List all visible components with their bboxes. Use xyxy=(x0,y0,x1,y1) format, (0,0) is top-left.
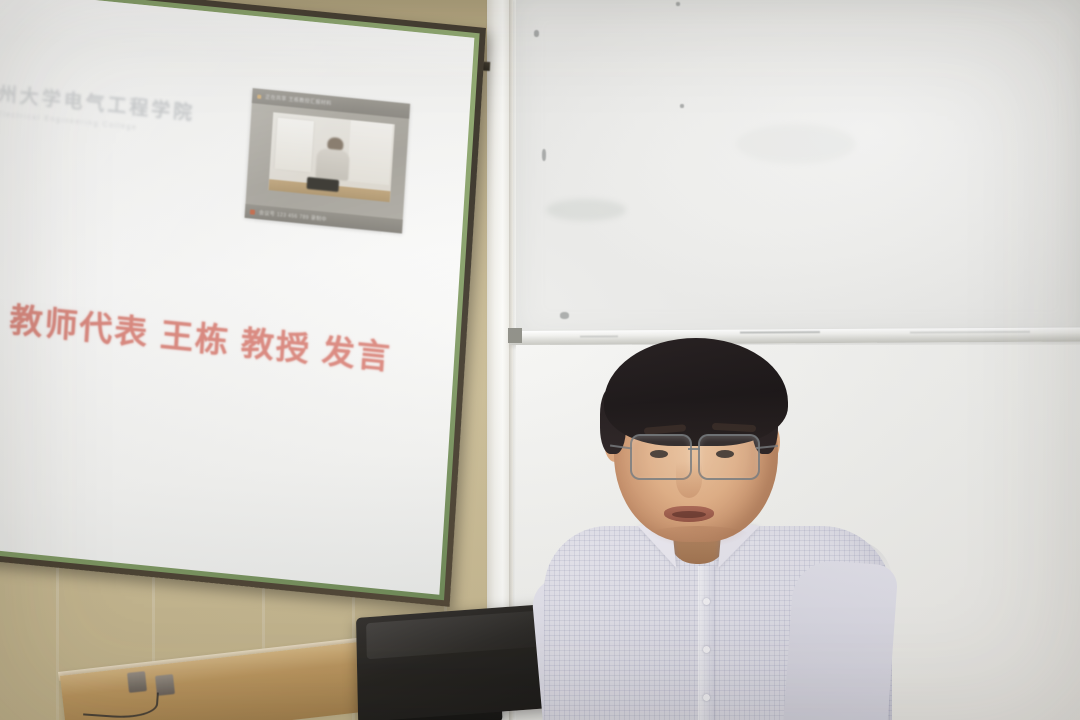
photo-scene: 州大学电气工程学院 Electrical Engineering College… xyxy=(0,0,1080,720)
pip-person-body xyxy=(316,148,351,181)
whiteboard-upper xyxy=(516,0,1080,339)
pip-video-feed xyxy=(268,112,394,202)
slide-surface: 州大学电气工程学院 Electrical Engineering College… xyxy=(0,0,474,595)
slide-title: 教师代表 王栋 教授 发言 xyxy=(8,293,393,379)
screen-share-indicator-icon xyxy=(257,94,261,98)
presenter-nose xyxy=(676,462,702,498)
pip-footer: 会议号 123 456 789 录制中 xyxy=(245,204,403,234)
projection-screen[interactable]: 州大学电气工程学院 Electrical Engineering College… xyxy=(0,0,486,607)
whiteboard-corner-bracket xyxy=(508,328,522,343)
recording-indicator-icon xyxy=(250,209,255,214)
glasses-bridge xyxy=(688,448,700,450)
university-logo: 州大学电气工程学院 Electrical Engineering College xyxy=(0,79,208,139)
presenter-right-sleeve xyxy=(781,559,898,720)
presenter-hair xyxy=(604,338,788,446)
pip-title-text: 正在共享 王栋教授汇报材料 xyxy=(265,93,332,107)
presenter xyxy=(552,330,882,720)
pip-footer-text: 会议号 123 456 789 录制中 xyxy=(259,209,327,223)
glasses-lens-right xyxy=(698,434,760,480)
pip-video-window[interactable]: 正在共享 王栋教授汇报材料 会议号 123 456 789 录制中 xyxy=(245,88,410,233)
